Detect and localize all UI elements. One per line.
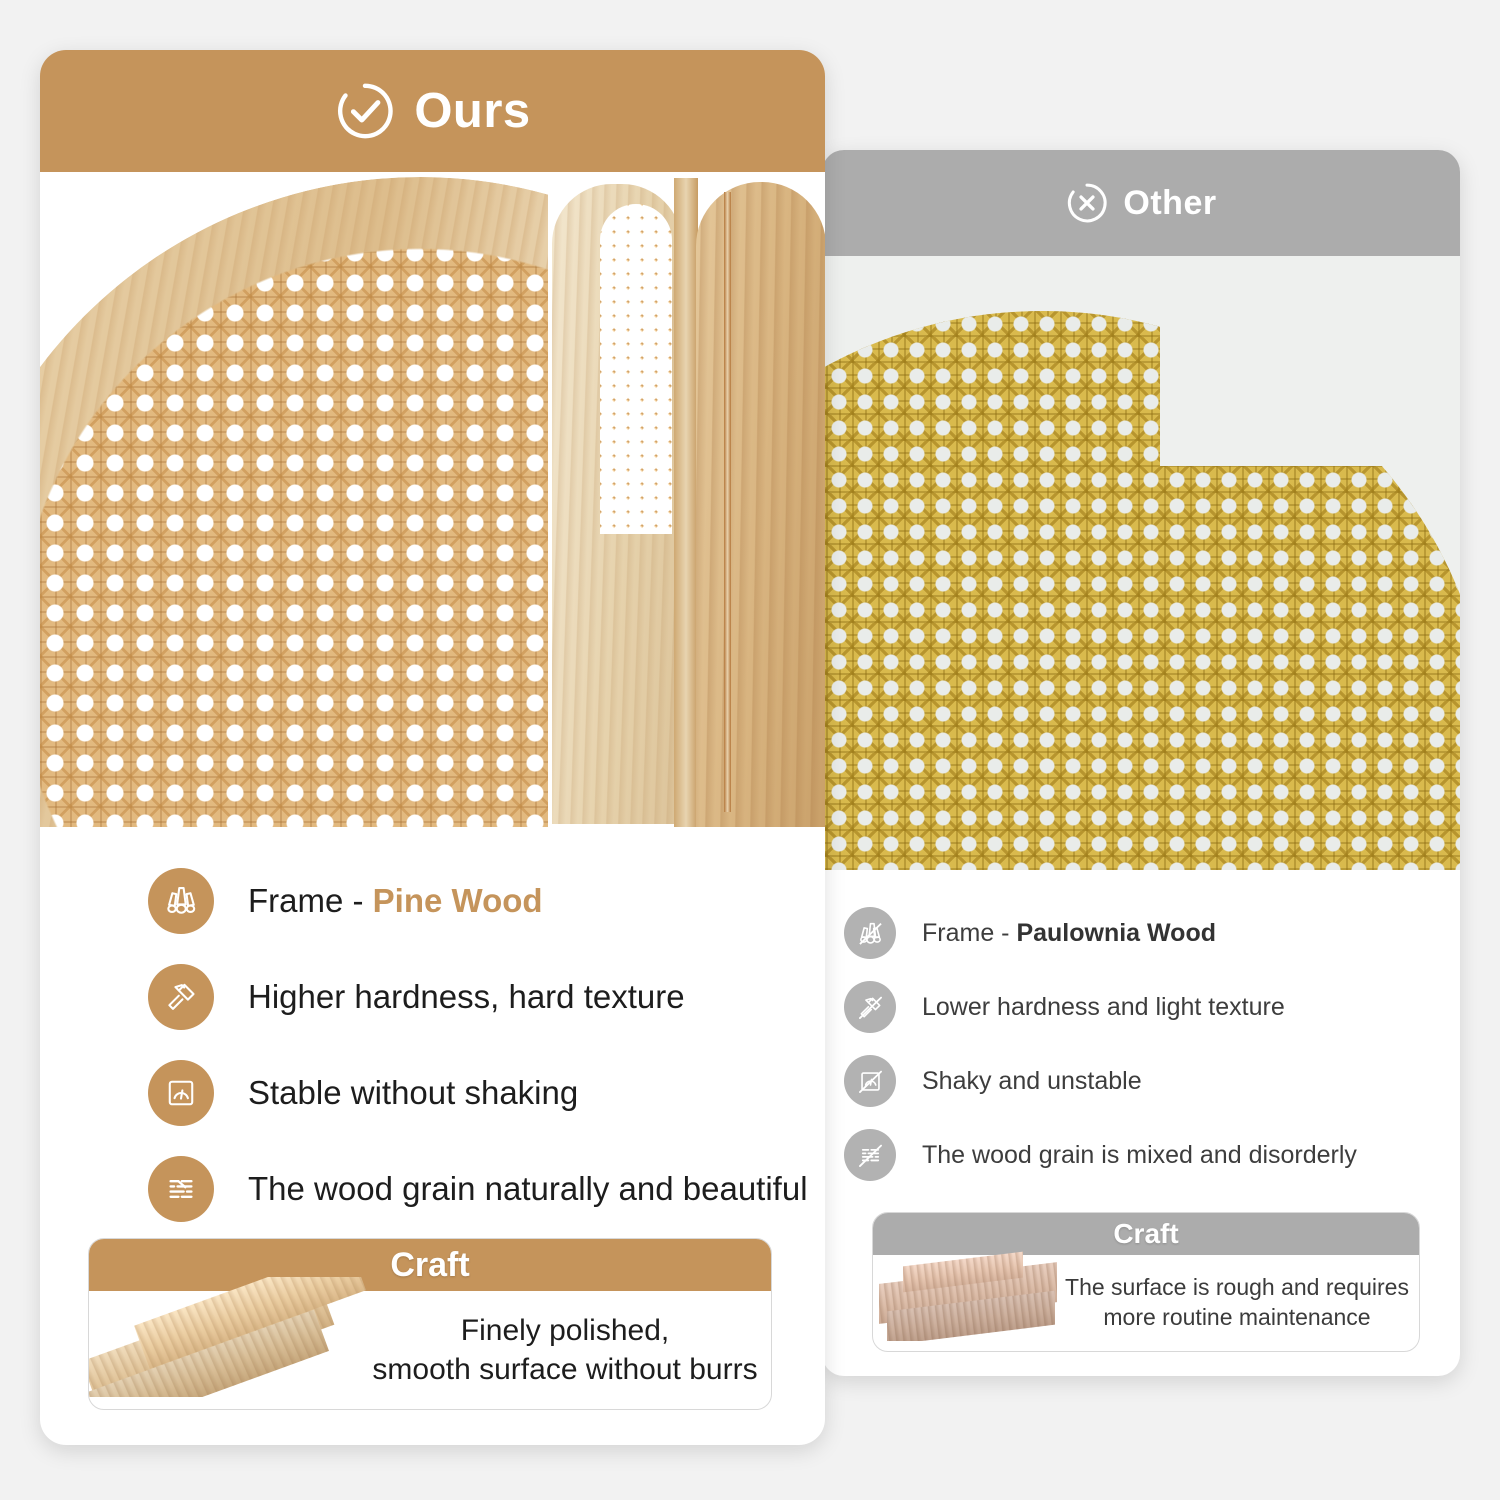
feature-label: The wood grain naturally and beautiful — [248, 1170, 808, 1208]
feature-label: Higher hardness, hard texture — [248, 978, 685, 1016]
feature-label: Shaky and unstable — [922, 1067, 1142, 1096]
craft-panel-ours: Craft Finely polished, smooth surface wi… — [88, 1238, 772, 1410]
feature-label: Stable without shaking — [248, 1074, 578, 1112]
feature-row: Lower hardness and light texture — [822, 970, 1460, 1044]
check-circle-icon — [334, 80, 396, 142]
feature-row: Higher hardness, hard texture — [40, 949, 825, 1045]
axe-disabled-icon — [844, 981, 896, 1033]
feature-label: Lower hardness and light texture — [922, 993, 1285, 1022]
craft-photo-ours — [89, 1277, 379, 1397]
photo-background-other — [1160, 256, 1460, 466]
gauge-icon — [148, 1060, 214, 1126]
feature-row: Frame - Paulownia Wood — [822, 896, 1460, 970]
feature-list-other: Frame - Paulownia Wood Lower hardness an… — [822, 870, 1460, 1192]
card-header-other: Other — [822, 150, 1460, 256]
wood-grain-icon — [148, 1156, 214, 1222]
pine-ring-back — [696, 182, 825, 827]
feature-label: Frame - Pine Wood — [248, 882, 543, 920]
cane-insert-small — [600, 204, 672, 534]
cross-circle-icon — [1065, 181, 1109, 225]
axe-icon — [148, 964, 214, 1030]
card-header-ours: Ours — [40, 50, 825, 172]
logs-icon — [148, 868, 214, 934]
pine-ring-seam — [724, 192, 731, 812]
product-photo-ours — [40, 172, 825, 827]
feature-list-ours: Frame - Pine Wood Higher hardness, hard … — [40, 827, 825, 1237]
comparison-card-other: Other Frame - Paulownia — [822, 150, 1460, 1376]
craft-text-other: The surface is rough and requires more r… — [1059, 1273, 1415, 1333]
feature-row: Frame - Pine Wood — [40, 853, 825, 949]
feature-label: Frame - Paulownia Wood — [922, 919, 1216, 948]
craft-photo-other — [873, 1243, 1068, 1341]
craft-text-ours: Finely polished, smooth surface without … — [365, 1311, 765, 1389]
wood-grain-disabled-icon — [844, 1129, 896, 1181]
pine-ring-edge — [674, 178, 698, 827]
card-title-other: Other — [1123, 184, 1216, 223]
feature-row: Shaky and unstable — [822, 1044, 1460, 1118]
comparison-card-ours: Ours — [40, 50, 825, 1445]
craft-panel-other: Craft The surface is rough and requires … — [872, 1212, 1420, 1352]
comparison-infographic: Other Frame - Paulownia — [0, 0, 1500, 1500]
feature-label: The wood grain is mixed and disorderly — [922, 1141, 1357, 1170]
feature-row: The wood grain naturally and beautiful — [40, 1141, 825, 1237]
feature-row: The wood grain is mixed and disorderly — [822, 1118, 1460, 1192]
gauge-disabled-icon — [844, 1055, 896, 1107]
card-title-ours: Ours — [414, 83, 530, 139]
product-photo-other — [822, 256, 1460, 870]
logs-disabled-icon — [844, 907, 896, 959]
feature-row: Stable without shaking — [40, 1045, 825, 1141]
